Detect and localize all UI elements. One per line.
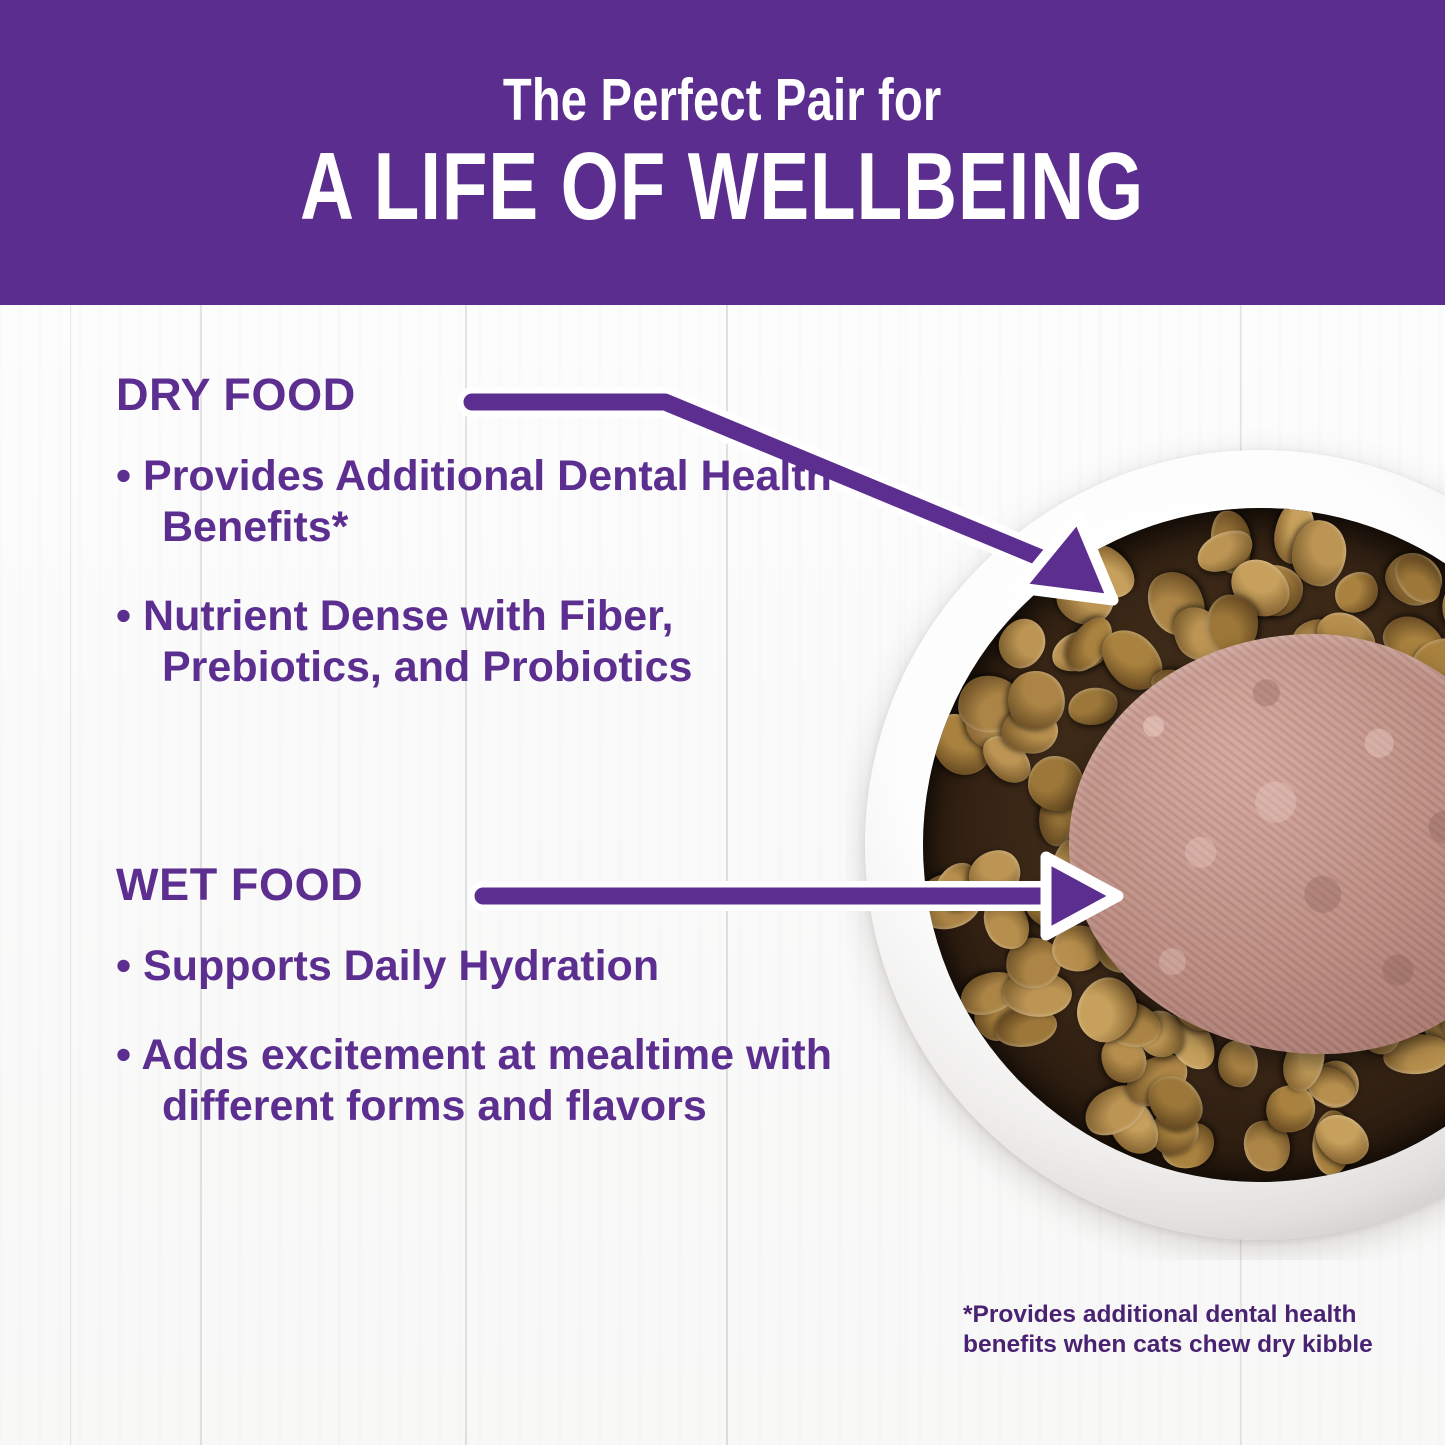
dry-food-section: DRY FOOD • Provides Additional Dental He… [116,372,836,732]
wet-food-pate [1069,634,1445,1054]
wet-food-bullet-1: • Supports Daily Hydration [116,941,836,992]
dry-food-bullet-1-text: Provides Additional Dental Health Benefi… [143,452,832,551]
dry-food-bullet-1: • Provides Additional Dental Health Bene… [116,451,836,553]
header-banner: The Perfect Pair for A LIFE OF WELLBEING [0,0,1445,305]
cat-food-bowl-photo [845,430,1445,1260]
promo-graphic: The Perfect Pair for A LIFE OF WELLBEING [0,0,1445,1445]
bowl-interior [923,508,1445,1182]
wet-food-section: WET FOOD • Supports Daily Hydration • Ad… [116,862,836,1170]
dry-food-heading: DRY FOOD [116,372,836,417]
wet-food-bullet-2-text: Adds excitement at mealtime with differe… [141,1031,832,1130]
wet-food-bullet-2: • Adds excitement at mealtime with diffe… [116,1030,836,1132]
bullet-dot-icon: • [116,592,131,640]
header-line-2: A LIFE OF WELLBEING [301,139,1145,235]
dry-food-bullet-2: • Nutrient Dense with Fiber, Prebiotics,… [116,591,836,693]
wet-food-heading: WET FOOD [116,862,836,907]
kibble-piece [991,611,1054,676]
bullet-dot-icon: • [116,942,131,990]
bullet-dot-icon: • [116,1031,131,1079]
bowl-rim [865,450,1445,1240]
footnote-text: *Provides additional dental health benef… [963,1300,1383,1360]
header-line-1: The Perfect Pair for [503,70,942,132]
dry-food-bullet-2-text: Nutrient Dense with Fiber, Prebiotics, a… [143,592,692,691]
wet-food-bullet-1-text: Supports Daily Hydration [143,942,659,990]
bullet-dot-icon: • [116,452,131,500]
